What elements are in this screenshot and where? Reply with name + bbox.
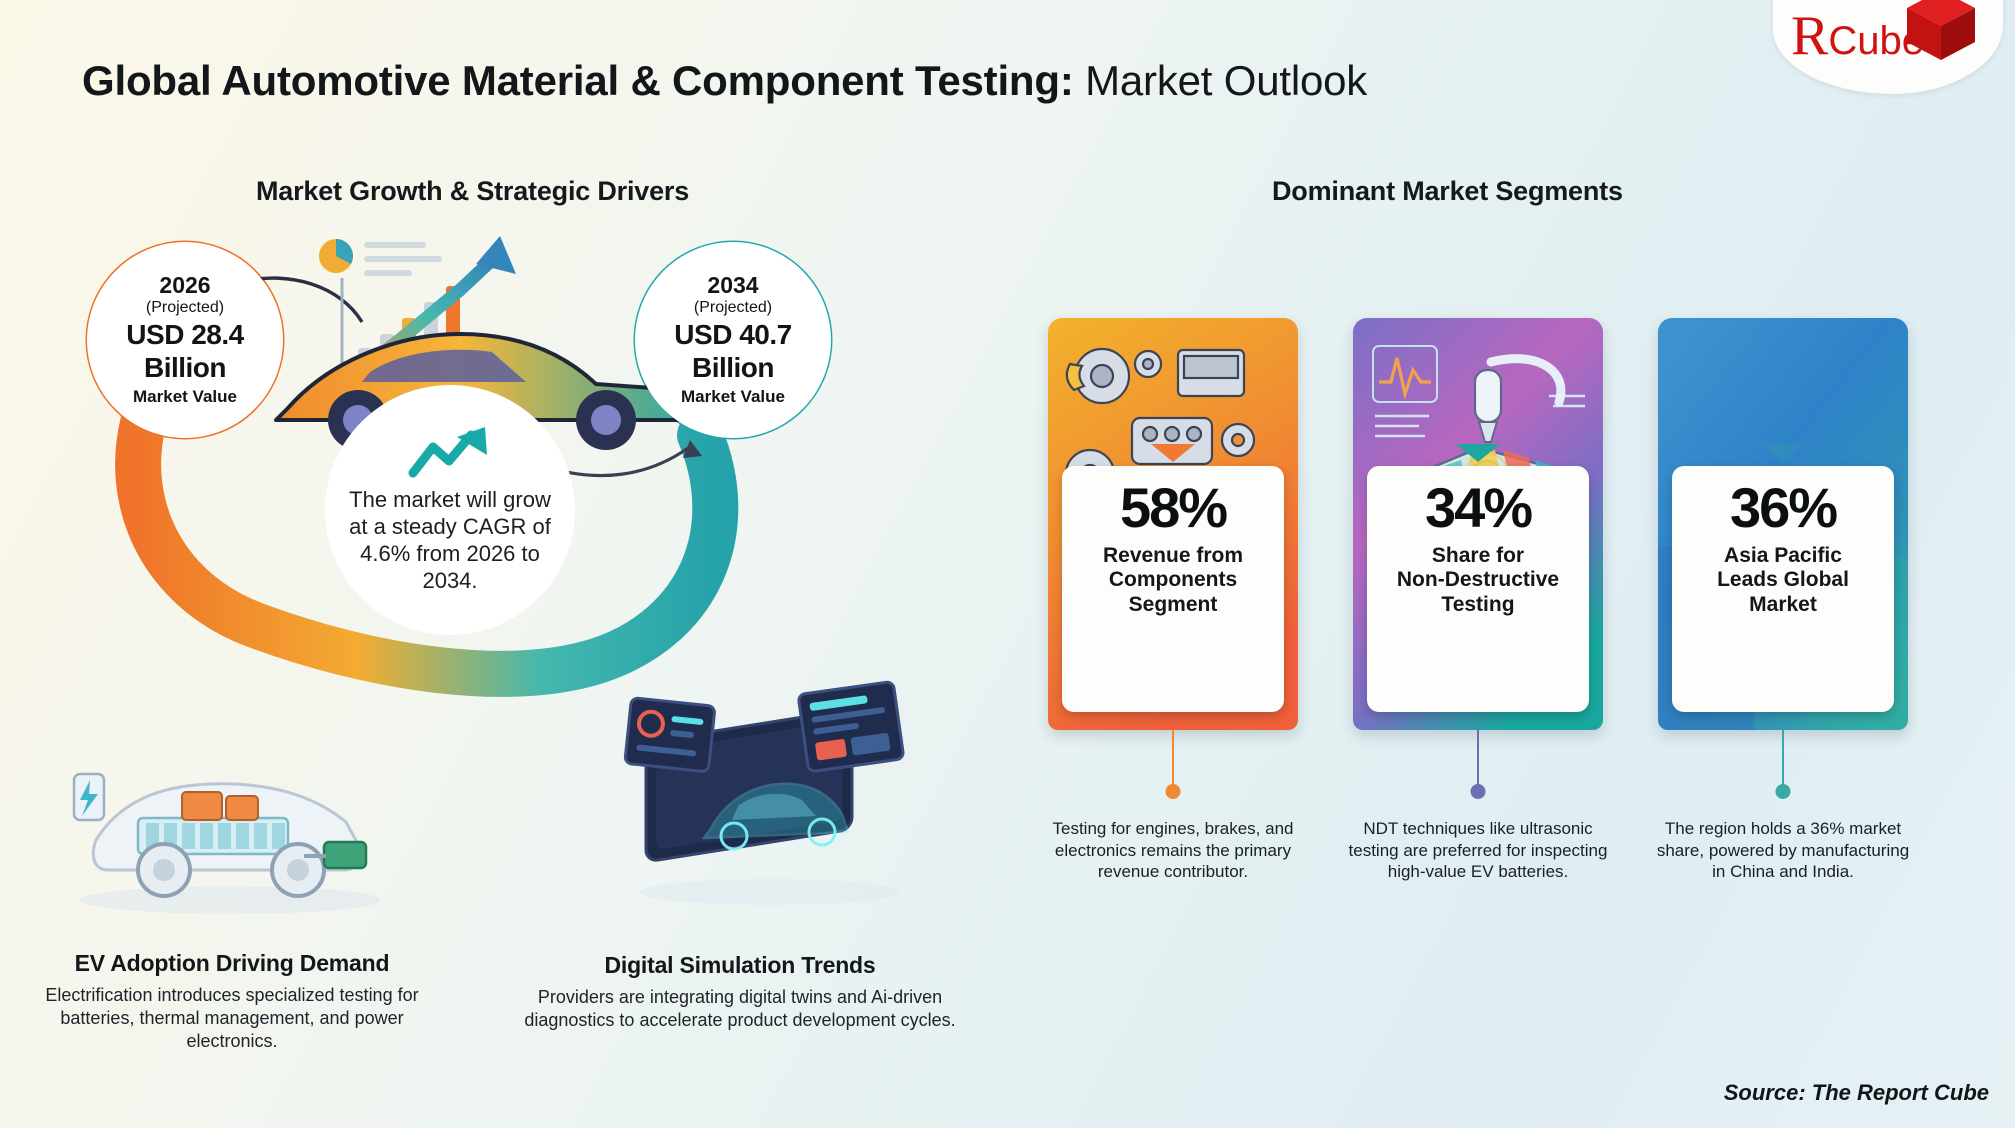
segment-caption-3: The region holds a 36% market share, pow… bbox=[1649, 818, 1917, 883]
driver-card-digital: Digital Simulation Trends Providers are … bbox=[520, 952, 960, 1032]
segment-label-1: Revenue from Components Segment bbox=[1103, 544, 1243, 617]
bubble-value-line1-2034: USD 40.7 bbox=[674, 321, 791, 350]
segment-card-components[interactable]: 58% Revenue from Components Segment bbox=[1048, 318, 1298, 730]
bubble-value-line1-2026: USD 28.4 bbox=[126, 321, 243, 350]
cube-icon bbox=[1905, 0, 1977, 64]
stat-box-components: 58% Revenue from Components Segment bbox=[1062, 466, 1284, 712]
segment-card-ndt[interactable]: 34% Share for Non-Destructive Testing bbox=[1353, 318, 1603, 730]
trend-up-arrow-icon bbox=[407, 425, 493, 479]
stat-bubble-2026: 2026 (Projected) USD 28.4 Billion Market… bbox=[87, 242, 283, 438]
bubble-sublabel-2034: Market Value bbox=[681, 387, 785, 407]
segment-caption-1: Testing for engines, brakes, and electro… bbox=[1039, 818, 1307, 883]
card-notch-2 bbox=[1456, 444, 1500, 462]
bubble-projected-2034: (Projected) bbox=[694, 298, 772, 317]
segment-card-asia-pacific[interactable]: 36% Asia Pacific Leads Global Market bbox=[1658, 318, 1908, 730]
page-title-regular: Market Outlook bbox=[1074, 57, 1367, 104]
segment-label-3-line1: Asia Pacific bbox=[1724, 544, 1842, 567]
segment-percent-2: 34% bbox=[1425, 480, 1531, 536]
connector-line-2 bbox=[1477, 730, 1479, 790]
bubble-value-line2-2034: Billion bbox=[692, 354, 774, 383]
segment-label-3: Asia Pacific Leads Global Market bbox=[1717, 544, 1849, 617]
card-notch-1 bbox=[1151, 444, 1195, 462]
segment-label-1-line1: Revenue from bbox=[1103, 544, 1243, 567]
logo-reversed-r-icon: Я bbox=[1791, 4, 1828, 68]
driver-card-ev: EV Adoption Driving Demand Electrificati… bbox=[22, 950, 442, 1053]
infographic-root: Global Automotive Material & Component T… bbox=[0, 0, 2015, 1128]
stat-box-ndt: 34% Share for Non-Destructive Testing bbox=[1367, 466, 1589, 712]
source-credit: Source: The Report Cube bbox=[1724, 1080, 1989, 1106]
connector-dot-3 bbox=[1776, 784, 1791, 799]
driver-body-ev: Electrification introduces specialized t… bbox=[22, 984, 442, 1053]
segment-label-3-line3: Market bbox=[1749, 593, 1817, 616]
ev-battery-chassis-illustration bbox=[60, 690, 390, 920]
page-title: Global Automotive Material & Component T… bbox=[82, 57, 1367, 105]
stat-bubble-2034: 2034 (Projected) USD 40.7 Billion Market… bbox=[635, 242, 831, 438]
cagr-statement: The market will grow at a steady CAGR of… bbox=[325, 487, 575, 594]
connector-line-3 bbox=[1782, 730, 1784, 790]
segment-percent-1: 58% bbox=[1120, 480, 1226, 536]
card-notch-3 bbox=[1761, 444, 1805, 462]
section-heading-left: Market Growth & Strategic Drivers bbox=[256, 176, 689, 207]
digital-twin-tablet-illustration bbox=[620, 680, 910, 910]
segment-caption-2: NDT techniques like ultrasonic testing a… bbox=[1344, 818, 1612, 883]
driver-title-digital: Digital Simulation Trends bbox=[520, 952, 960, 979]
segment-percent-3: 36% bbox=[1730, 480, 1836, 536]
segment-label-1-line2: Components bbox=[1109, 568, 1237, 591]
segment-label-1-line3: Segment bbox=[1129, 593, 1218, 616]
driver-title-ev: EV Adoption Driving Demand bbox=[22, 950, 442, 977]
page-title-bold: Global Automotive Material & Component T… bbox=[82, 57, 1074, 104]
segment-label-2-line1: Share for bbox=[1432, 544, 1524, 567]
cagr-bubble: The market will grow at a steady CAGR of… bbox=[325, 385, 575, 635]
segment-label-2-line2: Non-Destructive bbox=[1397, 568, 1559, 591]
stat-box-asia-pacific: 36% Asia Pacific Leads Global Market bbox=[1672, 466, 1894, 712]
segment-cards: 58% Revenue from Components Segment bbox=[1048, 318, 1978, 878]
section-heading-right: Dominant Market Segments bbox=[1272, 176, 1623, 207]
bubble-sublabel-2026: Market Value bbox=[133, 387, 237, 407]
bubble-year-2026: 2026 bbox=[159, 273, 210, 297]
brand-logo: ЯCube bbox=[1773, 0, 2003, 94]
bubble-value-line2-2026: Billion bbox=[144, 354, 226, 383]
connector-dot-2 bbox=[1471, 784, 1486, 799]
segment-label-2: Share for Non-Destructive Testing bbox=[1397, 544, 1559, 617]
driver-body-digital: Providers are integrating digital twins … bbox=[520, 986, 960, 1032]
connector-dot-1 bbox=[1166, 784, 1181, 799]
connector-line-1 bbox=[1172, 730, 1174, 790]
bubble-projected-2026: (Projected) bbox=[146, 298, 224, 317]
segment-label-3-line2: Leads Global bbox=[1717, 568, 1849, 591]
segment-label-2-line3: Testing bbox=[1441, 593, 1514, 616]
bubble-year-2034: 2034 bbox=[707, 273, 758, 297]
